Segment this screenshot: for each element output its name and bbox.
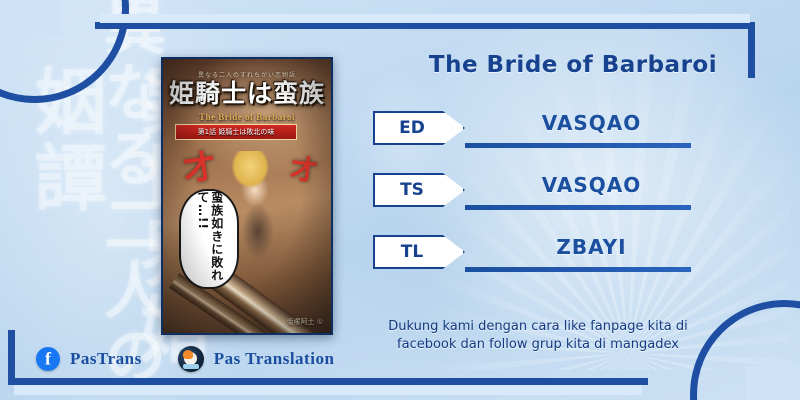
credit-name-value: ZBAYI	[465, 235, 718, 263]
credit-name-value: VASQAO	[465, 173, 718, 201]
manga-cover-image: オ オ 異なる二人のすれちがい恋物語 姫騎士は蛮族 The Bride of B…	[161, 57, 333, 335]
frame-border-bottom	[8, 378, 648, 385]
page-title: The Bride of Barbaroi	[373, 52, 773, 84]
support-note: Dukung kami dengan cara like fanpage kit…	[368, 318, 708, 353]
frame-border-top	[95, 22, 755, 29]
cover-sfx-left: オ	[178, 137, 221, 194]
cover-english-title: The Bride of Barbaroi	[163, 112, 331, 122]
credit-name-value: VASQAO	[465, 111, 718, 139]
credit-underline	[465, 143, 691, 148]
credit-role-tag-ts: TS	[373, 173, 465, 207]
credit-role-label: TL	[375, 242, 449, 262]
frame-inner-top	[100, 14, 750, 23]
social-bar: PasTrans Pas Translation	[36, 346, 334, 372]
cover-chapter-banner: 第1話 姫騎士は敗北の味	[175, 124, 297, 140]
facebook-icon[interactable]	[36, 347, 60, 371]
cover-speech-text: 蛮族如きに敗れて…!!	[195, 191, 223, 287]
pas-translation-handle[interactable]: Pas Translation	[214, 349, 335, 369]
credits-list: ED VASQAO TS VASQAO TL ZBAYI	[373, 105, 718, 291]
credit-role-label: ED	[375, 118, 449, 138]
credit-row: TS VASQAO	[373, 167, 718, 229]
credit-row: ED VASQAO	[373, 105, 718, 167]
credit-row: TL ZBAYI	[373, 229, 718, 291]
frame-inner-bottom	[14, 385, 642, 395]
frame-border-left	[8, 330, 15, 385]
credit-underline	[465, 267, 691, 272]
cover-tagline: 異なる二人のすれちがい恋物語	[163, 70, 331, 79]
facebook-handle[interactable]: PasTrans	[70, 349, 142, 369]
credit-underline	[465, 205, 691, 210]
pas-translation-logo-icon[interactable]	[178, 346, 204, 372]
support-note-line-2: facebook dan follow grup kita di mangade…	[368, 336, 708, 354]
promo-banner: 異なる二人の 異世界婚姻譚 オ オ 異なる二人のすれちがい恋物語 姫騎士は蛮族 …	[0, 0, 800, 400]
credit-role-tag-tl: TL	[373, 235, 465, 269]
logo-base	[183, 364, 199, 369]
cover-speech-bubble: 蛮族如きに敗れて…!!	[179, 189, 239, 289]
credit-role-tag-ed: ED	[373, 111, 465, 145]
cover-artist-credit: 兎塚阿土 ①	[286, 317, 323, 327]
credit-role-label: TS	[375, 180, 449, 200]
support-note-line-1: Dukung kami dengan cara like fanpage kit…	[368, 318, 708, 336]
cover-japanese-title: 姫騎士は蛮族	[169, 81, 325, 106]
cover-sfx-right: オ	[287, 144, 321, 191]
